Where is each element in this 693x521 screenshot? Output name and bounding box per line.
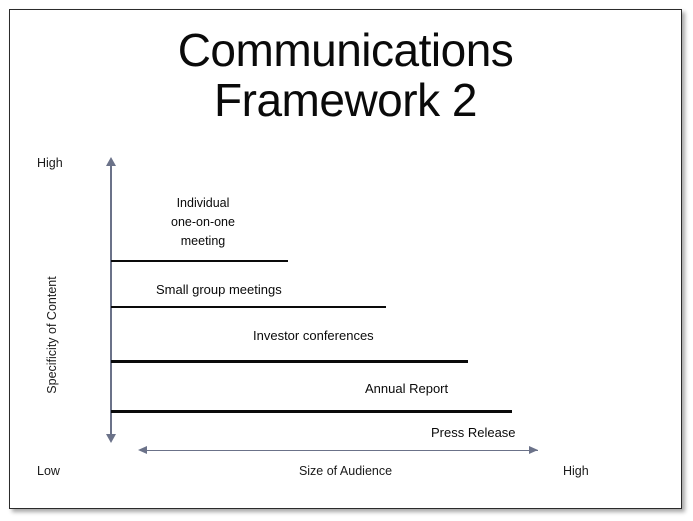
slide-canvas: Communications Framework 2 High Low Size…: [10, 10, 681, 508]
x-axis-left-arrow-icon: [138, 446, 147, 454]
bar-annual-report: [111, 410, 512, 413]
bar-individual-one-on-one-meeting: [111, 260, 288, 262]
y-axis-label: Specificity of Content: [45, 260, 59, 410]
bar-label-annual-report: Annual Report: [365, 380, 448, 398]
y-axis-line: [110, 165, 112, 437]
bar-label-small-group-meetings: Small group meetings: [156, 281, 282, 299]
bar-label-press-release: Press Release: [431, 424, 516, 442]
bar-label-investor-conferences: Investor conferences: [253, 327, 374, 345]
y-axis-high-label: High: [37, 156, 63, 170]
bar-small-group-meetings: [111, 306, 386, 308]
x-axis-high-label: High: [563, 464, 589, 478]
y-axis-up-arrow-icon: [106, 157, 116, 166]
bar-label-individual-one-on-one-meeting: Individual one-on-one meeting: [128, 194, 278, 251]
y-axis-down-arrow-icon: [106, 434, 116, 443]
x-axis-right-arrow-icon: [529, 446, 538, 454]
page-title: Communications Framework 2: [10, 25, 681, 125]
slide-frame: Communications Framework 2 High Low Size…: [9, 9, 682, 509]
bar-investor-conferences: [111, 360, 468, 363]
x-axis-line: [144, 450, 538, 451]
